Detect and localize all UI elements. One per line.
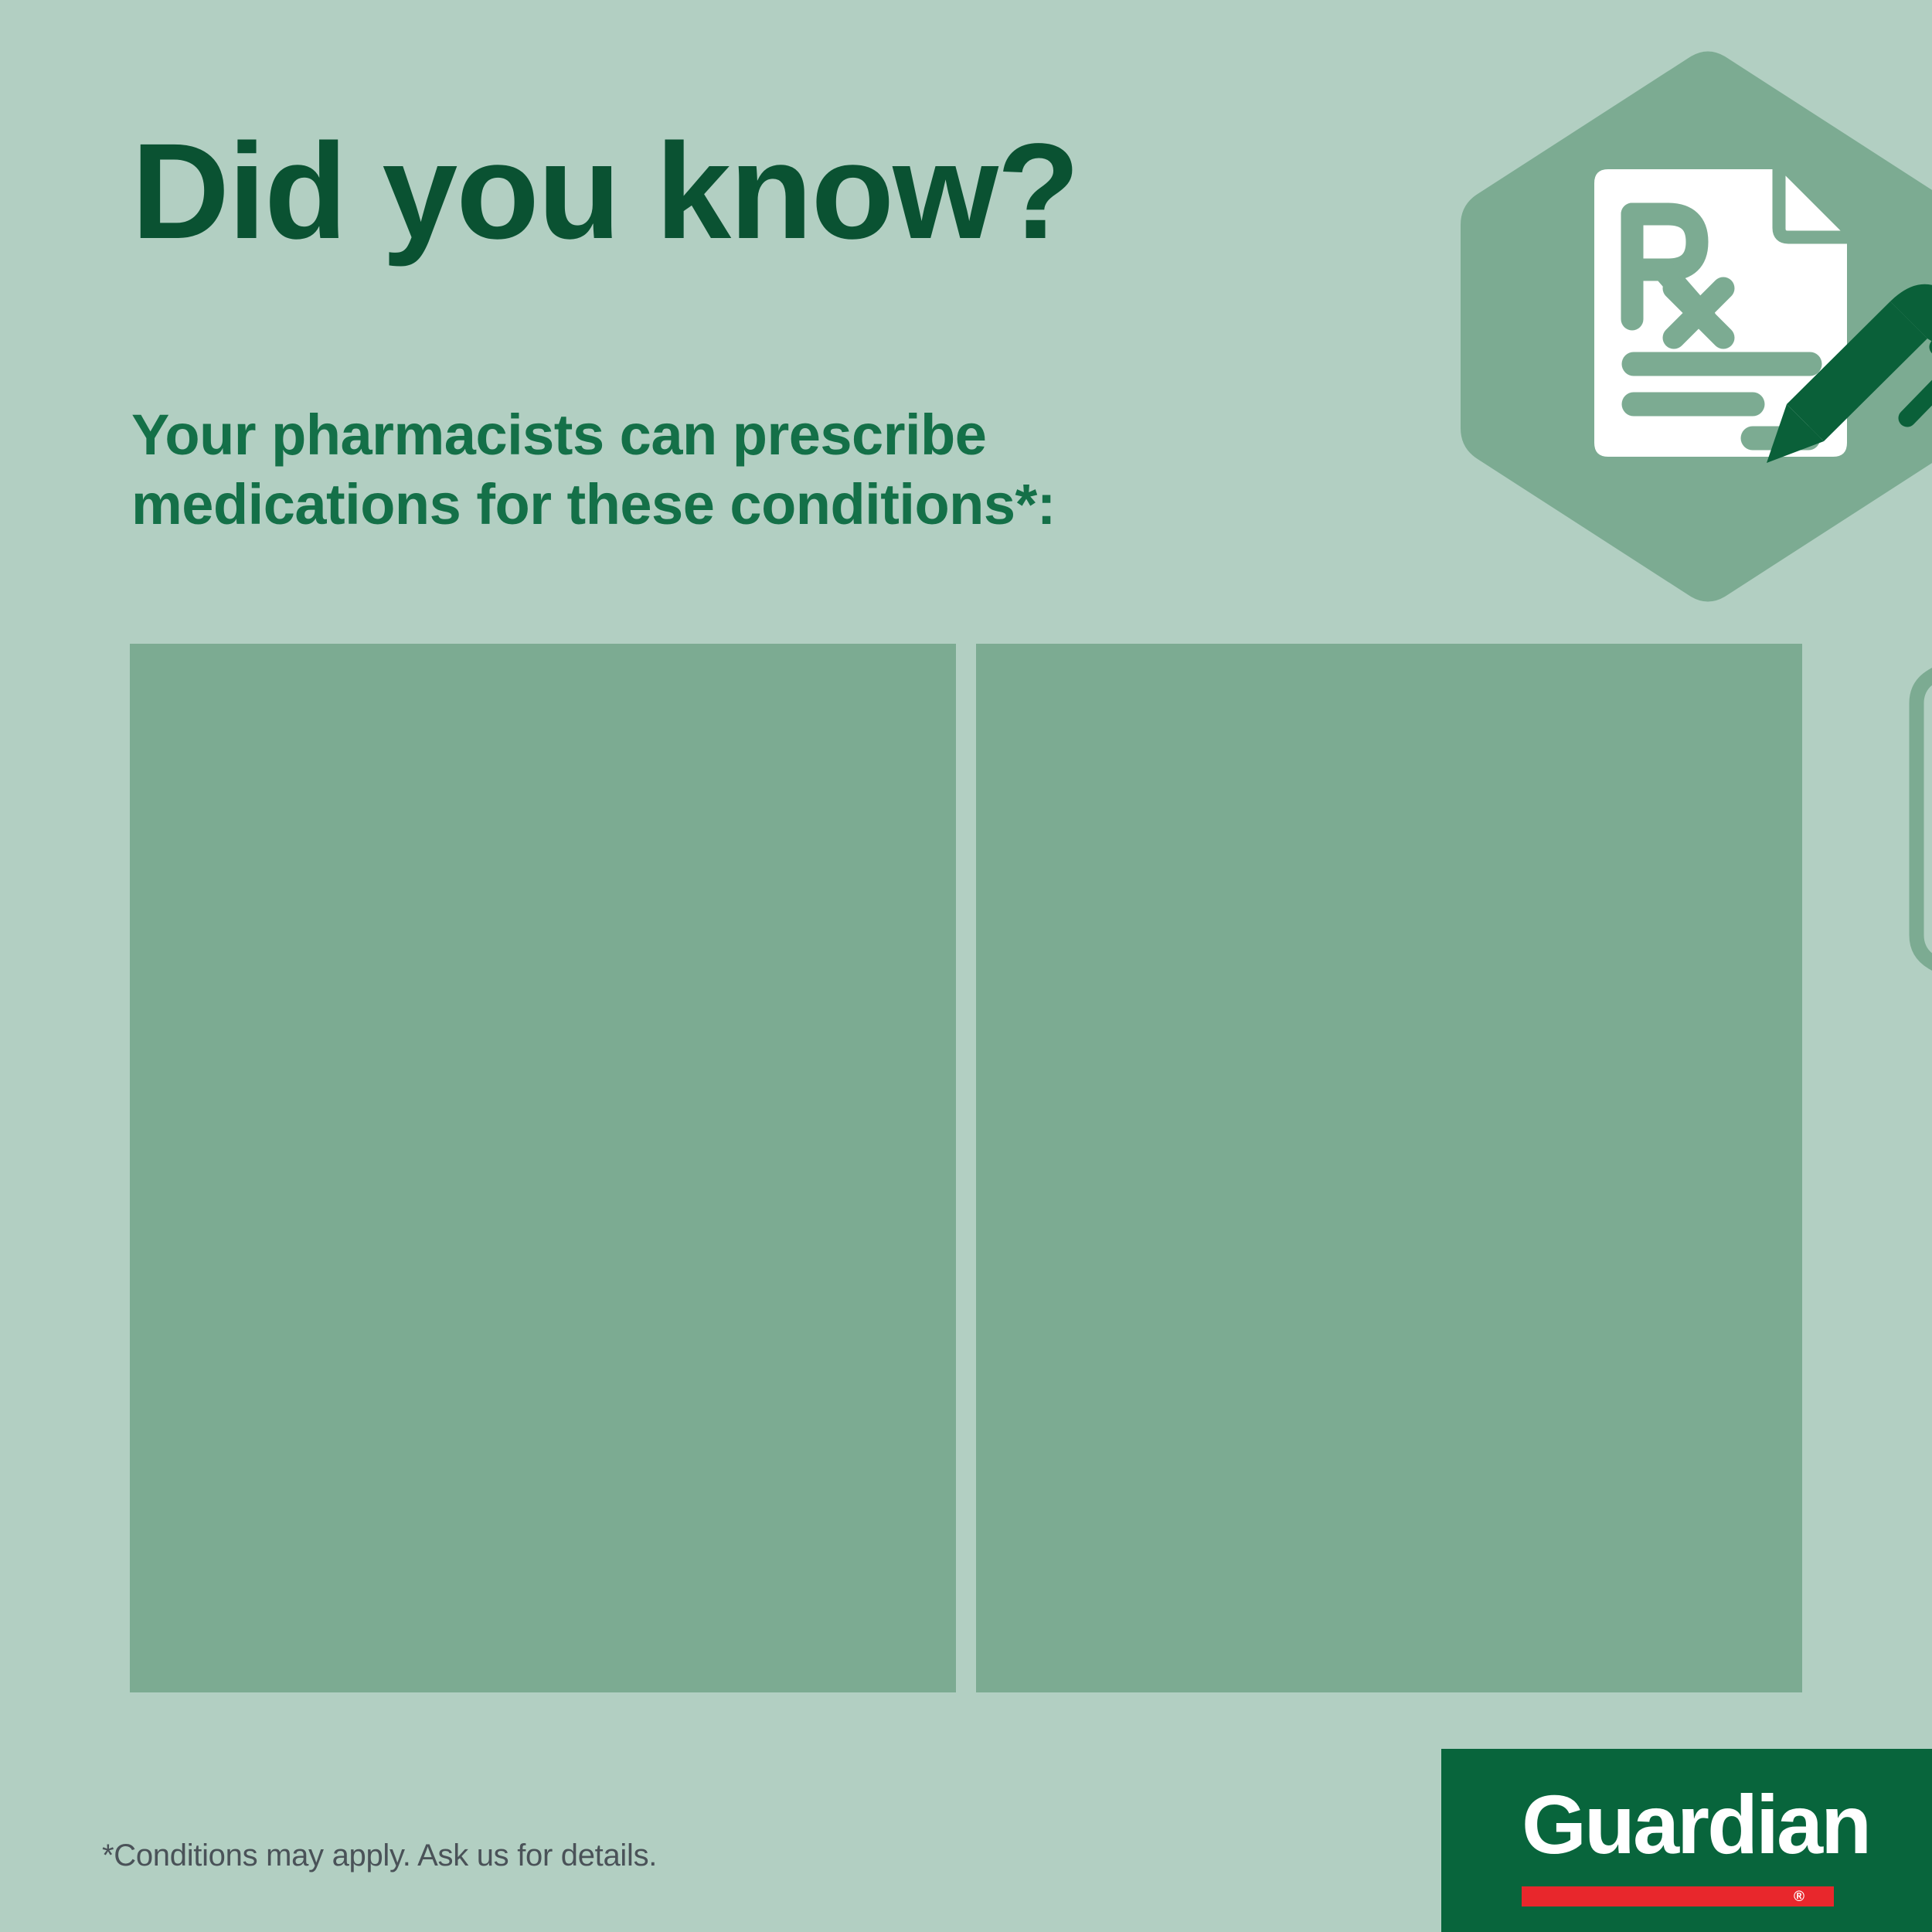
page-title: Did you know? xyxy=(131,124,1406,260)
hexagon-outline-icon xyxy=(1832,545,1932,1009)
paper-text-lines xyxy=(1634,364,1810,438)
conditions-panel-right xyxy=(976,644,1802,1692)
guardian-wordmark: Guardian xyxy=(1522,1783,1869,1866)
subtitle-line-1: Your pharmacists can prescribe xyxy=(131,400,1383,470)
guardian-logo-rule xyxy=(1522,1886,1834,1906)
footnote-disclaimer: *Conditions may apply. Ask us for detail… xyxy=(102,1840,657,1871)
hexagon-solid-icon xyxy=(1461,43,1932,611)
registered-trademark-icon: ® xyxy=(1794,1889,1804,1904)
conditions-panel-left xyxy=(130,644,956,1692)
poster-canvas: Did you know? Your pharmacists can presc… xyxy=(0,0,1932,1932)
rx-symbol xyxy=(1632,214,1723,338)
pen-icon xyxy=(1767,284,1932,463)
prescription-document xyxy=(1594,169,1847,457)
guardian-logo: Guardian ® xyxy=(1441,1749,1932,1932)
conditions-panel-group xyxy=(130,644,1802,1692)
subtitle-line-2: medications for these conditions*: xyxy=(131,470,1383,539)
page-subtitle: Your pharmacists can prescribe medicatio… xyxy=(131,400,1383,540)
